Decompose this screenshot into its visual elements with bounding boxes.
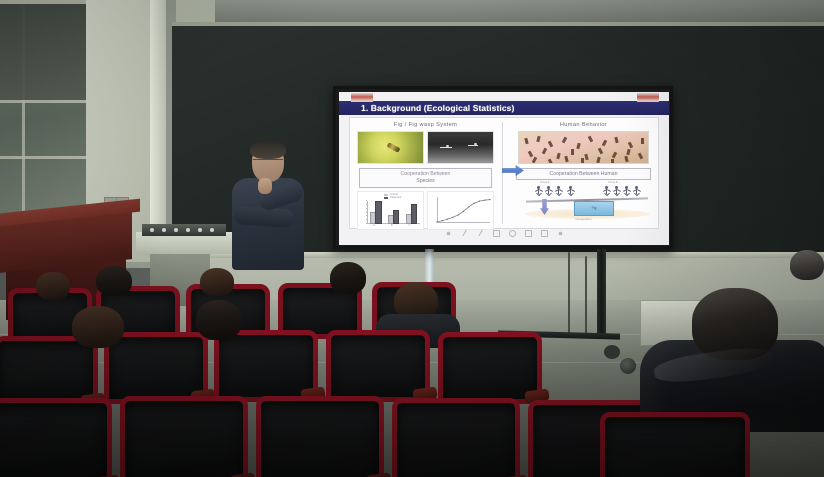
- av-equipment[interactable]: [142, 224, 226, 236]
- bar-x-tick-label: C: [409, 224, 411, 227]
- right-callout-box: Cooperation Between Human: [516, 168, 651, 180]
- circle-icon[interactable]: [509, 230, 516, 237]
- bar-y-tickmark: [366, 204, 368, 205]
- painted-figure-icon: [548, 159, 553, 164]
- painted-figure-icon: [596, 157, 600, 164]
- more-icon[interactable]: [557, 230, 564, 237]
- bar-legend-swatch: [384, 194, 388, 196]
- line-chart: [427, 191, 494, 230]
- bar-y-tickmark: [366, 219, 368, 220]
- seesaw-left-label: Group A: [540, 181, 550, 184]
- seesaw-resource-box: Fig: [574, 201, 614, 216]
- stick-figure-icon: [566, 186, 575, 197]
- left-callout-box: Cooperation Between Species: [359, 168, 492, 188]
- bar-y-axis: [367, 201, 368, 224]
- bar-chart: ABCControlTreatment: [357, 191, 424, 230]
- corner-ornament-icon: [637, 93, 659, 102]
- fig-with-wasp-photo: [357, 131, 424, 164]
- seat: [256, 396, 384, 477]
- painted-figure-icon: [532, 157, 537, 164]
- bar-legend-swatch: [384, 197, 388, 199]
- seesaw-diagram: Fig Group A Group B Cooperation: [516, 184, 651, 220]
- panel-divider: [502, 122, 503, 224]
- slide-panel-left: Fig / Fig wasp System Coop: [353, 120, 498, 226]
- bar-y-tickmark: [366, 212, 368, 213]
- bar-y-tickmark: [366, 200, 368, 201]
- presentation-display[interactable]: 1. Background (Ecological Statistics) Fi…: [333, 86, 673, 249]
- painted-figure-icon: [626, 149, 630, 156]
- stick-figure-icon: [554, 186, 563, 197]
- shape-icon[interactable]: [493, 230, 500, 237]
- stick-figure-icon: [534, 186, 543, 197]
- display-screen[interactable]: 1. Background (Ecological Statistics) Fi…: [339, 92, 669, 245]
- glasses-icon: [253, 159, 283, 166]
- left-panel-heading: Fig / Fig wasp System: [353, 122, 498, 128]
- lecture-hall-photo: 1. Background (Ecological Statistics) Fi…: [0, 0, 824, 477]
- seat: [438, 332, 542, 404]
- painted-figure-icon: [581, 158, 584, 164]
- painted-figure-icon: [588, 136, 593, 143]
- painted-figure-icon: [611, 159, 614, 164]
- slide-content: Fig / Fig wasp System Coop: [349, 117, 659, 229]
- charts-row: ABCControlTreatment: [357, 191, 494, 230]
- stick-figure-icon: [612, 186, 621, 197]
- student-head: [790, 250, 824, 280]
- painted-figure-icon: [536, 136, 540, 143]
- painted-figure-icon: [548, 141, 553, 148]
- painted-figure-icon: [528, 151, 533, 158]
- seesaw-caption: Cooperation: [516, 217, 651, 221]
- painted-figure-icon: [556, 153, 560, 160]
- student-head: [200, 268, 234, 296]
- person-in-black-puffy-jacket: [640, 300, 824, 430]
- student-head: [72, 306, 124, 348]
- painted-figure-icon: [614, 137, 618, 144]
- seesaw-right-label: Group B: [608, 181, 618, 184]
- painted-figure-icon: [624, 156, 628, 163]
- stick-figure-icon: [622, 186, 631, 197]
- seat: [104, 332, 208, 404]
- bar-x-tick-label: A: [373, 224, 375, 227]
- painted-figure-icon: [584, 154, 588, 161]
- bar: [375, 201, 381, 224]
- save-icon[interactable]: [525, 230, 532, 237]
- bar-y-tickmark: [366, 215, 368, 216]
- left-callout-line1: Cooperation Between: [360, 171, 491, 178]
- display-toolbar[interactable]: [339, 228, 669, 239]
- seesaw-box-label: Fig: [575, 202, 613, 215]
- water-bottle: [425, 248, 434, 282]
- presenter-hair: [250, 140, 286, 159]
- slide-panel-right: Human Behavior Cooperation Between Human…: [510, 120, 657, 226]
- presenter-hand: [258, 178, 272, 194]
- painted-figure-icon: [602, 140, 607, 147]
- painted-figure-icon: [612, 152, 617, 159]
- stick-figure-icon: [632, 186, 641, 197]
- painted-figure-icon: [628, 142, 633, 149]
- display-stand-wheel: [620, 358, 636, 374]
- display-stand-foot: [604, 345, 620, 359]
- cave-painting-photo: [518, 131, 649, 164]
- display-cable: [585, 256, 587, 334]
- painted-figure-icon: [641, 138, 644, 144]
- slide-title: 1. Background (Ecological Statistics): [361, 101, 514, 115]
- painted-figure-icon: [562, 137, 567, 144]
- stick-figure-icon: [544, 186, 553, 197]
- right-panel-heading: Human Behavior: [510, 122, 657, 128]
- display-cable: [568, 252, 570, 336]
- pointer-icon[interactable]: [445, 230, 452, 237]
- left-photo-row: [357, 131, 494, 164]
- presenter: [228, 142, 306, 270]
- student-head: [330, 262, 366, 294]
- wasp-macro-photo: [427, 131, 494, 164]
- bar: [411, 204, 417, 224]
- painted-figure-icon: [542, 148, 547, 155]
- painted-figure-icon: [571, 149, 574, 155]
- display-stand-column: [597, 249, 606, 337]
- bar-legend-label: Treatment: [390, 196, 402, 199]
- bar-x-tick-label: B: [391, 224, 393, 227]
- pen-icon[interactable]: [461, 230, 468, 237]
- eraser-icon[interactable]: [477, 230, 484, 237]
- seat: [120, 396, 248, 477]
- student-head: [36, 272, 70, 300]
- painted-figure-icon: [576, 143, 580, 150]
- wasp-icon: [386, 142, 400, 153]
- seat: [0, 398, 112, 477]
- left-callout-line2: Species: [416, 178, 434, 184]
- seat: [214, 330, 318, 402]
- painted-figure-icon: [598, 148, 603, 155]
- line-series: [428, 192, 493, 229]
- seat: [600, 412, 750, 477]
- grid-icon[interactable]: [541, 230, 548, 237]
- student-head: [96, 266, 132, 296]
- painted-figure-icon: [564, 156, 568, 163]
- seat: [326, 330, 430, 402]
- student-head: [196, 300, 242, 340]
- painted-figure-icon: [638, 153, 643, 160]
- seat: [392, 398, 520, 477]
- painted-figure-icon: [524, 138, 528, 145]
- bar-y-tickmark: [366, 208, 368, 209]
- bar-y-tickmark: [366, 223, 368, 224]
- stick-figure-icon: [602, 186, 611, 197]
- bar: [393, 210, 399, 224]
